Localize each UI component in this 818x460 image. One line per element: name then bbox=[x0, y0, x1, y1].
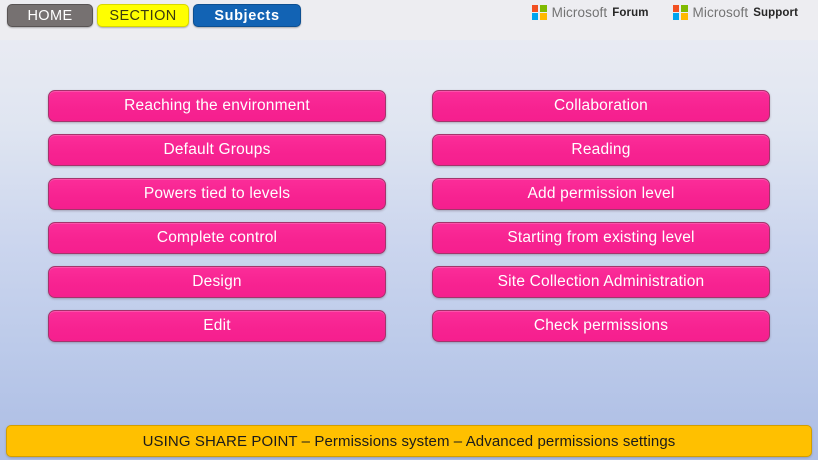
microsoft-logo-icon bbox=[532, 5, 547, 20]
microsoft-forum-label: Forum bbox=[612, 7, 648, 19]
topic-button-default-groups[interactable]: Default Groups bbox=[48, 134, 386, 166]
topic-button-powers-tied-to-levels[interactable]: Powers tied to levels bbox=[48, 178, 386, 210]
topic-button-grid: Reaching the environment Collaboration D… bbox=[48, 90, 770, 342]
topic-button-design[interactable]: Design bbox=[48, 266, 386, 298]
microsoft-wordmark: Microsoft bbox=[693, 5, 749, 20]
topic-button-check-permissions[interactable]: Check permissions bbox=[432, 310, 770, 342]
footer-title: USING SHARE POINT – Permissions system –… bbox=[143, 433, 676, 450]
topic-button-starting-from-existing-level[interactable]: Starting from existing level bbox=[432, 222, 770, 254]
microsoft-logo-icon bbox=[673, 5, 688, 20]
microsoft-support-label: Support bbox=[753, 7, 798, 19]
tab-section[interactable]: SECTION bbox=[97, 4, 189, 27]
footer-banner: USING SHARE POINT – Permissions system –… bbox=[6, 425, 812, 457]
topic-button-collaboration[interactable]: Collaboration bbox=[432, 90, 770, 122]
topic-button-edit[interactable]: Edit bbox=[48, 310, 386, 342]
tab-subjects[interactable]: Subjects bbox=[193, 4, 301, 27]
topic-button-site-collection-administration[interactable]: Site Collection Administration bbox=[432, 266, 770, 298]
microsoft-wordmark: Microsoft bbox=[552, 5, 608, 20]
microsoft-support-lockup[interactable]: Microsoft Support bbox=[673, 5, 798, 20]
tab-home[interactable]: HOME bbox=[7, 4, 93, 27]
topic-button-reading[interactable]: Reading bbox=[432, 134, 770, 166]
topic-button-complete-control[interactable]: Complete control bbox=[48, 222, 386, 254]
topic-button-reaching-the-environment[interactable]: Reaching the environment bbox=[48, 90, 386, 122]
brand-area: Microsoft Forum Microsoft Support bbox=[532, 5, 798, 20]
slide-canvas: HOME SECTION Subjects Microsoft Forum Mi… bbox=[0, 0, 818, 460]
navigation-tabs: HOME SECTION Subjects bbox=[7, 4, 301, 27]
microsoft-forum-lockup[interactable]: Microsoft Forum bbox=[532, 5, 649, 20]
topic-button-add-permission-level[interactable]: Add permission level bbox=[432, 178, 770, 210]
